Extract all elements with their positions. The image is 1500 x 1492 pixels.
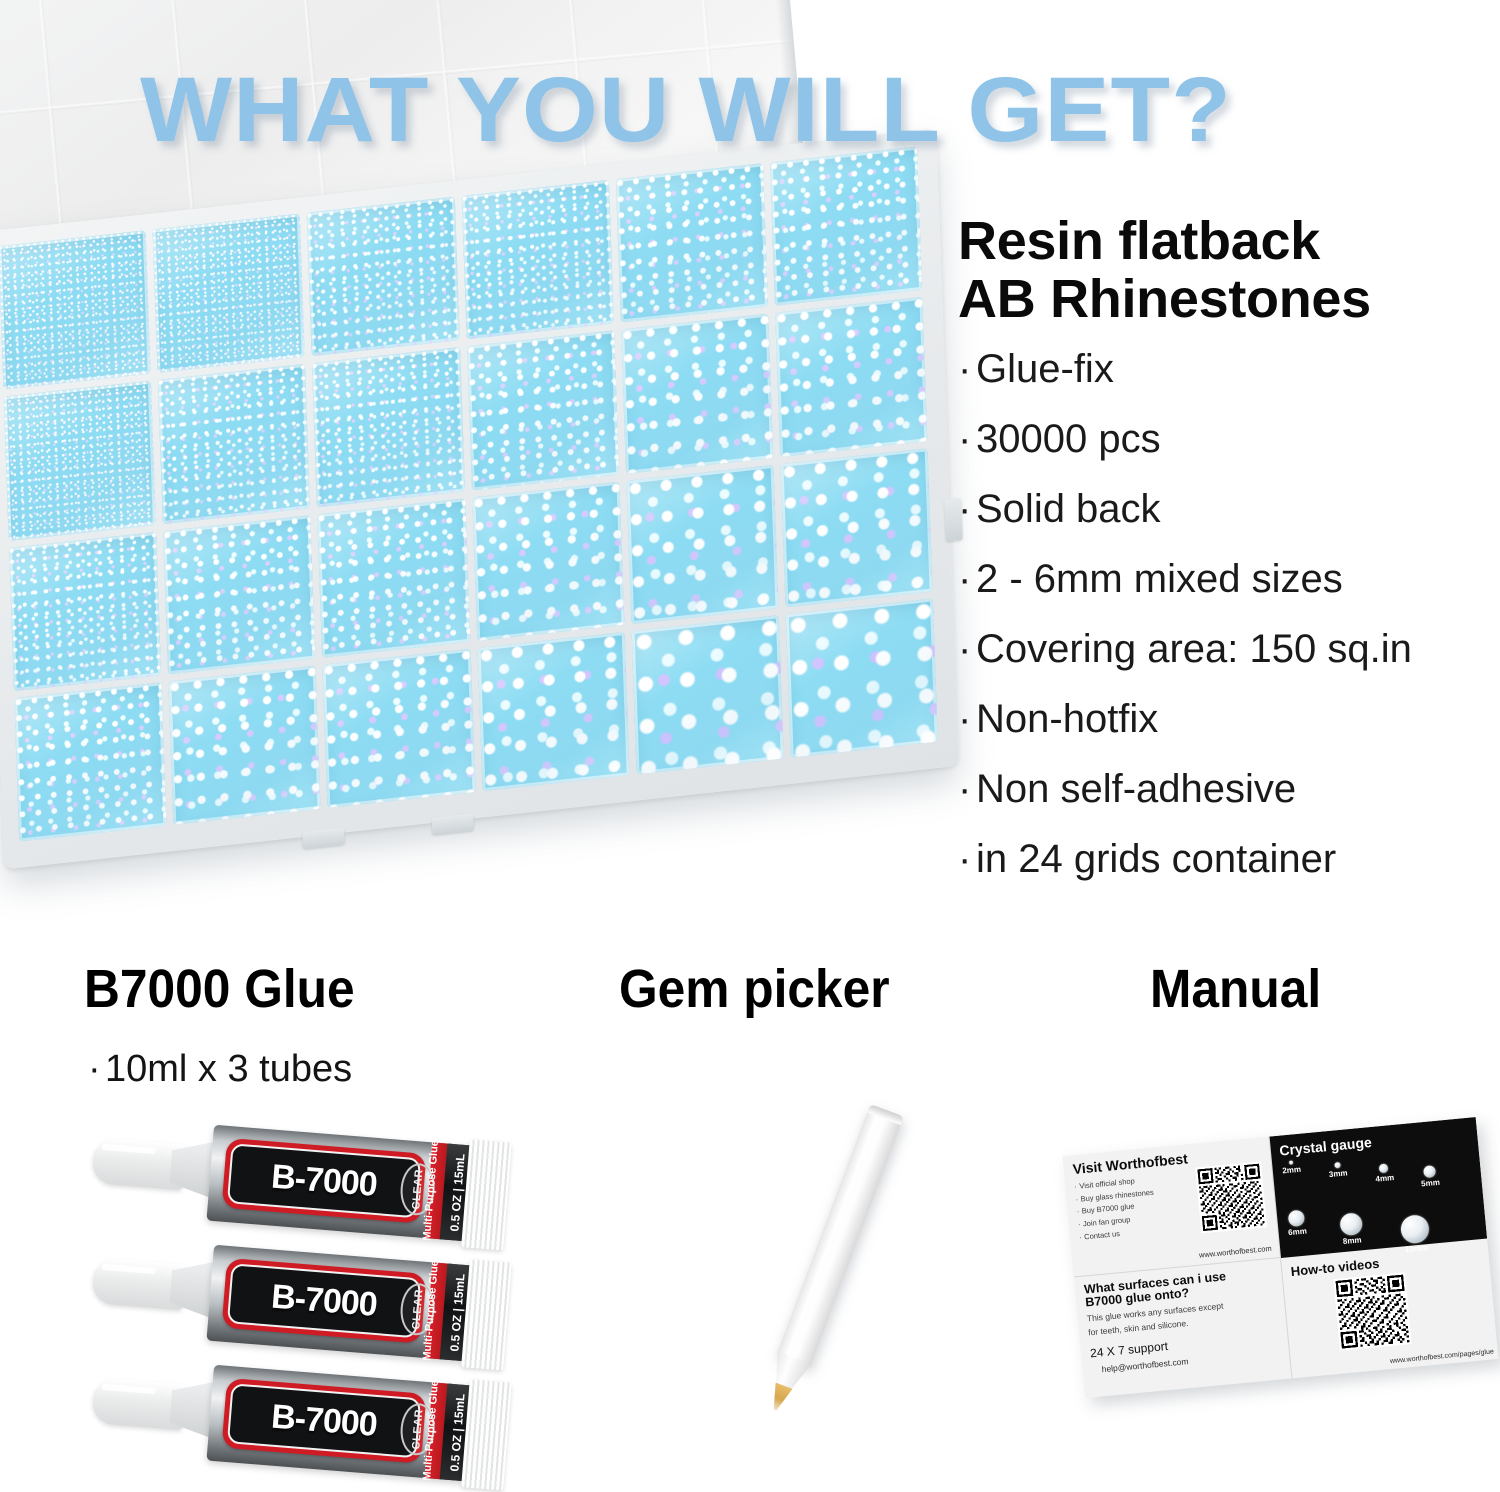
rhinestones xyxy=(0,230,151,390)
qr-code-icon xyxy=(1195,1161,1267,1233)
compartment xyxy=(472,481,624,641)
compartment-grid xyxy=(0,147,938,842)
card-quadrant-crystal-gauge: Crystal gauge 2mm 3mm 4mm 5mm xyxy=(1269,1117,1487,1257)
feature-label: in 24 grids container xyxy=(976,837,1336,881)
glue-section-heading: B7000 Glue xyxy=(84,958,355,1020)
rhinestones xyxy=(621,314,773,474)
glue-tube: B-7000 CLEAR Multi-Purpose Glue 0.5 OZ |… xyxy=(88,1347,516,1492)
rhinestones xyxy=(472,481,624,641)
product-info-panel: Resin flatback AB Rhinestones ·Glue-fix … xyxy=(958,212,1488,909)
tray-latch xyxy=(432,813,474,835)
rhinestones xyxy=(770,147,922,307)
compartment xyxy=(312,347,464,507)
compartment xyxy=(4,381,156,541)
list-item: ·Non-hotfix xyxy=(958,699,1488,739)
glue-section-bullet: ·10ml x 3 tubes xyxy=(88,1048,352,1091)
compartment xyxy=(158,364,310,524)
bullet-icon: · xyxy=(958,839,976,879)
gauge-sample: 6mm xyxy=(1286,1210,1307,1238)
bullet-icon: · xyxy=(88,1048,105,1091)
list-item: ·Solid back xyxy=(958,489,1488,529)
tube-crimp-seal xyxy=(461,1259,512,1370)
gauge-samples: 2mm 3mm 4mm 5mm 6mm xyxy=(1271,1139,1487,1256)
compartment xyxy=(307,197,459,357)
gauge-size-label: 8mm xyxy=(1341,1235,1364,1246)
tube-label-inner: B-7000 xyxy=(227,1143,421,1218)
compartment xyxy=(14,682,166,842)
videos-url: www.worthofbest.com/pages/glue xyxy=(1390,1348,1494,1365)
product-heading-line1: Resin flatback xyxy=(958,212,1488,270)
gauge-size-label: 3mm xyxy=(1328,1168,1347,1179)
card-quadrant-surfaces: What surfaces can i use B7000 glue onto?… xyxy=(1074,1258,1292,1398)
compartment xyxy=(786,598,938,758)
glue-quantity-label: 10ml x 3 tubes xyxy=(105,1048,352,1090)
compartment xyxy=(317,498,469,658)
feature-label: 2 - 6mm mixed sizes xyxy=(976,557,1343,601)
bullet-icon: · xyxy=(958,559,976,599)
product-feature-list: ·Glue-fix ·30000 pcs ·Solid back ·2 - 6m… xyxy=(958,349,1488,879)
crystal-icon xyxy=(1334,1162,1341,1169)
rhinestones xyxy=(461,180,613,340)
crystal-icon xyxy=(1379,1163,1389,1173)
compartment xyxy=(163,515,315,675)
manual-card: Visit Worthofbest ·Visit official shop ·… xyxy=(1062,1117,1498,1398)
rhinestones xyxy=(467,331,619,491)
visit-item-label: Contact us xyxy=(1084,1229,1121,1241)
qr-svg xyxy=(1197,1164,1265,1232)
qr-svg xyxy=(1335,1274,1409,1348)
rhinestones xyxy=(631,615,783,775)
rhinestones xyxy=(786,598,938,758)
bullet-icon: · xyxy=(958,699,976,739)
page-title: WHAT YOU WILL GET? xyxy=(140,58,1500,163)
list-item: ·Covering area: 150 sq.in xyxy=(958,629,1488,669)
tube-crimp-seal xyxy=(461,1139,512,1250)
compartment xyxy=(467,331,619,491)
crystal-icon xyxy=(1399,1214,1430,1245)
pencil-shaft xyxy=(776,1104,904,1368)
rhinestone-tray xyxy=(0,128,959,869)
compartment xyxy=(621,314,773,474)
crystal-icon xyxy=(1423,1165,1436,1178)
compartment xyxy=(9,531,161,691)
list-item: ·30000 pcs xyxy=(958,419,1488,459)
rhinestones xyxy=(780,448,932,608)
rhinestones xyxy=(477,632,629,792)
visit-list: ·Visit official shop ·Buy glass rhinesto… xyxy=(1074,1170,1193,1245)
tube-label-inner: B-7000 xyxy=(227,1383,421,1458)
gem-picker-pencil xyxy=(758,1104,904,1416)
gauge-sample: 5mm xyxy=(1420,1165,1441,1189)
bullet-icon: · xyxy=(958,489,976,529)
feature-label: Solid back xyxy=(976,487,1161,531)
rhinestones xyxy=(158,364,310,524)
infographic-canvas: WHAT YOU WILL GET? Resin flatback AB Rhi… xyxy=(0,0,1500,1492)
rhinestones xyxy=(626,464,778,624)
rhinestones xyxy=(163,515,315,675)
compartment xyxy=(626,464,778,624)
crystal-icon xyxy=(1339,1212,1363,1236)
compartment xyxy=(0,230,151,390)
list-item: ·in 24 grids container xyxy=(958,839,1488,879)
compartment xyxy=(615,163,767,323)
compartment xyxy=(323,648,475,808)
rhinestones xyxy=(168,665,320,825)
compartment xyxy=(477,632,629,792)
rhinestones xyxy=(317,498,469,658)
tube-crimp-seal xyxy=(461,1379,512,1490)
bullet-icon: · xyxy=(958,769,976,809)
compartment xyxy=(168,665,320,825)
gem-picker-section-heading: Gem picker xyxy=(619,958,890,1020)
gauge-sample: 8mm xyxy=(1339,1212,1364,1246)
tube-label-inner: B-7000 xyxy=(227,1263,421,1338)
visit-url: www.worthofbest.com xyxy=(1198,1243,1271,1259)
rhinestones xyxy=(615,163,767,323)
rhinestones xyxy=(307,197,459,357)
crystal-icon xyxy=(1289,1160,1293,1164)
rhinestones xyxy=(775,297,927,457)
manual-section-heading: Manual xyxy=(1150,958,1321,1020)
list-item: ·Glue-fix xyxy=(958,349,1488,389)
rhinestones xyxy=(9,531,161,691)
tray-latch xyxy=(302,827,344,849)
compartment xyxy=(631,615,783,775)
feature-label: Non-hotfix xyxy=(976,697,1158,741)
rhinestones xyxy=(312,347,464,507)
feature-label: Non self-adhesive xyxy=(976,767,1296,811)
visit-item-label: Join fan group xyxy=(1083,1215,1131,1228)
bullet-icon: · xyxy=(958,629,976,669)
card-quadrant-visit: Visit Worthofbest ·Visit official shop ·… xyxy=(1062,1137,1280,1277)
rhinestones xyxy=(153,214,305,374)
feature-label: Glue-fix xyxy=(976,347,1114,391)
rhinestones xyxy=(323,648,475,808)
compartment xyxy=(153,214,305,374)
bullet-icon: · xyxy=(958,349,976,389)
feature-label: Covering area: 150 sq.in xyxy=(976,627,1412,671)
gauge-size-label: 5mm xyxy=(1421,1178,1440,1189)
gauge-size-label: 2mm xyxy=(1282,1165,1301,1176)
list-item: ·2 - 6mm mixed sizes xyxy=(958,559,1488,599)
compartment xyxy=(461,180,613,340)
bullet-icon: · xyxy=(958,419,976,459)
gauge-sample: 4mm xyxy=(1374,1163,1394,1184)
gauge-sample: 2mm xyxy=(1281,1160,1301,1176)
brand-name: B-7000 xyxy=(270,1397,378,1444)
gauge-size-label: 6mm xyxy=(1288,1226,1307,1237)
rhinestones xyxy=(4,381,156,541)
compartment xyxy=(770,147,922,307)
compartment xyxy=(775,297,927,457)
brand-name: B-7000 xyxy=(270,1277,378,1324)
card-quadrant-videos: How-to videos xyxy=(1281,1238,1499,1378)
product-heading-line2: AB Rhinestones xyxy=(958,270,1488,328)
qr-code-icon xyxy=(1333,1272,1411,1350)
brand-name: B-7000 xyxy=(270,1157,378,1204)
rhinestone-container xyxy=(0,232,982,932)
list-item: ·Non self-adhesive xyxy=(958,769,1488,809)
compartment xyxy=(780,448,932,608)
crystal-icon xyxy=(1288,1210,1305,1227)
rhinestones xyxy=(14,682,166,842)
gauge-size-label: 4mm xyxy=(1375,1173,1394,1184)
gauge-sample: 3mm xyxy=(1328,1161,1348,1179)
feature-label: 30000 pcs xyxy=(976,417,1161,461)
